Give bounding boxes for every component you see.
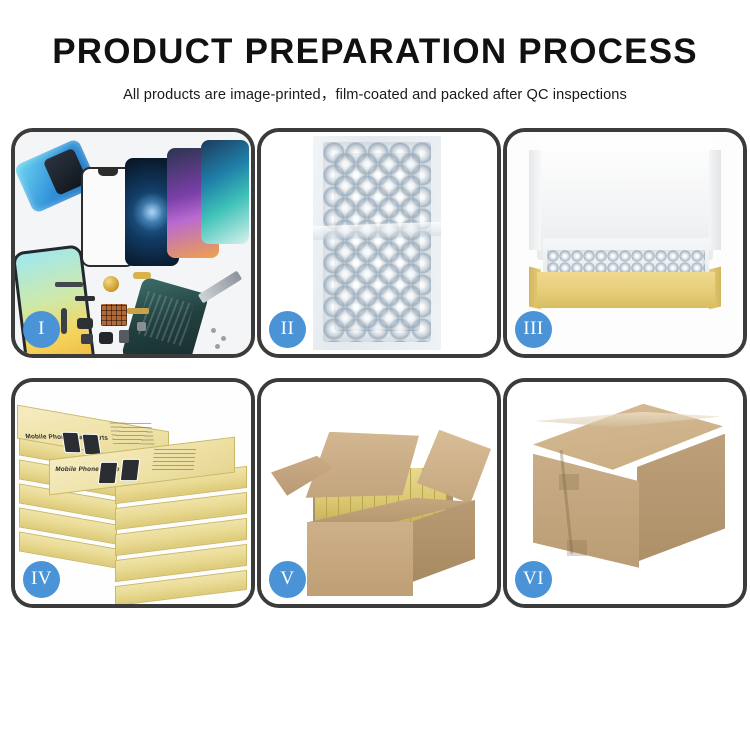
tweezers-tool [198, 270, 242, 303]
process-step-1: I [11, 128, 255, 358]
screw-part [211, 328, 216, 333]
flex-cable-part [127, 308, 149, 314]
spare-part [75, 296, 95, 301]
teal-gradient-display [201, 140, 249, 244]
box-spec-text-block [152, 448, 196, 470]
spare-part [119, 330, 129, 343]
box-artwork-screen [120, 459, 141, 481]
step-badge-1: I [23, 311, 60, 348]
box-front-panel [537, 272, 715, 308]
process-step-6: VI [503, 378, 747, 608]
page-subtitle: All products are image-printed，film-coat… [0, 83, 750, 104]
process-step-4: Mobile Phone Spare Parts Mobile Phone Sp… [11, 378, 255, 608]
header: PRODUCT PREPARATION PROCESS All products… [0, 0, 750, 104]
step-badge-2: II [269, 311, 306, 348]
spare-part [137, 322, 146, 331]
spare-part [61, 308, 67, 334]
step-badge-6: VI [515, 561, 552, 598]
bubble-texture-overlay [334, 153, 420, 331]
spare-part [81, 334, 93, 344]
step-badge-4: IV [23, 561, 60, 598]
product-preparation-infographic: PRODUCT PREPARATION PROCESS All products… [0, 0, 750, 750]
spare-part [77, 318, 93, 329]
process-step-3: III [503, 128, 747, 358]
step-badge-5: V [269, 561, 306, 598]
box-spec-text-block [110, 421, 155, 444]
phone-back-housing [121, 276, 210, 354]
process-step-2: II [257, 128, 501, 358]
step-badge-3: III [515, 311, 552, 348]
box-artwork-screen [98, 462, 119, 484]
flex-cable-part [133, 272, 151, 279]
screw-part [221, 336, 226, 341]
carton-flap-tab [559, 474, 579, 490]
screw-part [215, 344, 220, 349]
carton-flap-tab [567, 540, 587, 556]
process-step-grid: I II III [7, 128, 743, 608]
page-title: PRODUCT PREPARATION PROCESS [0, 34, 750, 71]
process-step-5: V [257, 378, 501, 608]
bubble-wrapped-contents [547, 250, 705, 274]
box-artwork-screen [61, 431, 81, 453]
carton-front-panel [307, 522, 413, 596]
box-artwork-screen [81, 433, 101, 455]
speaker-coil-part [103, 276, 119, 292]
copper-heatsink-part [101, 304, 127, 326]
spare-part [55, 282, 83, 287]
spare-part [99, 332, 113, 344]
